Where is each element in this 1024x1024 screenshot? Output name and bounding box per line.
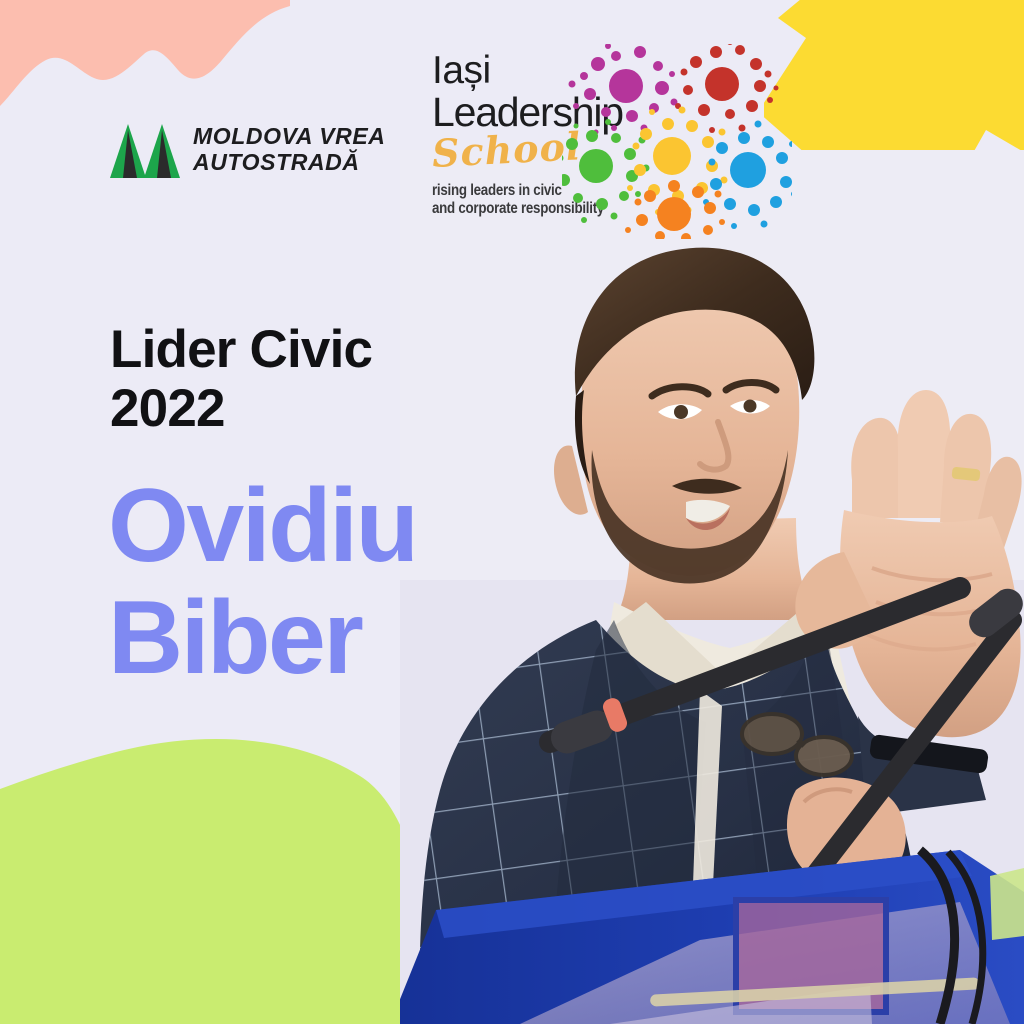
laureate-photo [400, 150, 1024, 1024]
moldova-wordmark-line2: AUTOSTRADĂ [193, 150, 386, 176]
green-blob-decoration [0, 690, 440, 1024]
moldova-word-moldova: MOLDOVA [193, 123, 319, 149]
logo-moldova-vrea-autostrada: MOLDOVA VREA AUTOSTRADĂ [108, 112, 393, 187]
laureate-name: Ovidiu Biber [108, 470, 417, 695]
logo-iasi-leadership-school: Iași Leadership School rising leaders in… [432, 52, 782, 242]
moldova-word-vrea: VREA [319, 123, 385, 149]
award-poster: MOLDOVA VREA AUTOSTRADĂ Iași Leadership … [0, 0, 1024, 1024]
moldova-highway-mark-icon [108, 120, 182, 180]
award-title: Lider Civic 2022 [110, 320, 372, 439]
moldova-wordmark: MOLDOVA VREA AUTOSTRADĂ [193, 124, 386, 176]
moldova-wordmark-line1: MOLDOVA VREA [193, 124, 386, 150]
ils-dot-burst-icon [562, 44, 792, 239]
